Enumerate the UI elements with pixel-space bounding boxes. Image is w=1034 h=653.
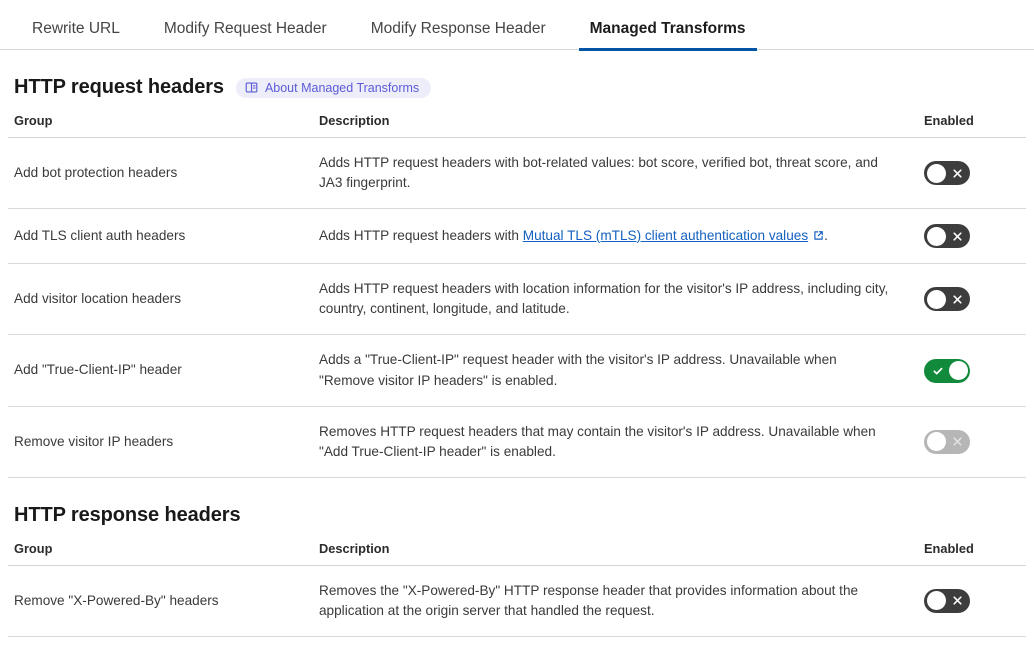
book-icon: [245, 81, 258, 94]
mutual-tls-link[interactable]: Mutual TLS (mTLS) client authentication …: [523, 228, 824, 243]
toggle-add-true-client-ip-header[interactable]: [924, 359, 970, 383]
tab-bar: Rewrite URL Modify Request Header Modify…: [0, 0, 1034, 50]
column-header-enabled: Enabled: [916, 537, 1026, 566]
table-row: Add "True-Client-IP" header Adds a "True…: [8, 335, 1026, 406]
description-prefix: Adds HTTP request headers with: [319, 228, 523, 243]
row-group-name: Add security headers: [8, 637, 313, 653]
close-icon: [952, 430, 963, 454]
row-description: Removes HTTP request headers that may co…: [313, 406, 916, 477]
row-enabled-cell: [916, 637, 1026, 653]
close-icon: [952, 287, 963, 311]
row-enabled-cell: [916, 565, 1026, 636]
column-header-description: Description: [313, 109, 916, 138]
row-description: Removes the "X-Powered-By" HTTP response…: [313, 565, 916, 636]
close-icon: [952, 224, 963, 248]
table-header-row: Group Description Enabled: [8, 109, 1026, 138]
section-header: HTTP request headers About Managed Trans…: [8, 50, 1026, 109]
table-row: Add visitor location headers Adds HTTP r…: [8, 264, 1026, 335]
table-row: Add security headers Adds several securi…: [8, 637, 1026, 653]
row-enabled-cell: [916, 335, 1026, 406]
row-enabled-cell: [916, 138, 1026, 209]
table-row: Remove visitor IP headers Removes HTTP r…: [8, 406, 1026, 477]
close-icon: [952, 589, 963, 613]
tab-label: Rewrite URL: [32, 20, 120, 37]
tab-label: Modify Response Header: [371, 20, 546, 37]
row-enabled-cell: [916, 406, 1026, 477]
toggle-knob: [927, 290, 946, 309]
row-description: Adds HTTP request headers with location …: [313, 264, 916, 335]
external-link-icon: [813, 227, 824, 247]
toggle-knob: [927, 591, 946, 610]
tab-modify-response-header[interactable]: Modify Response Header: [349, 21, 568, 51]
http-response-headers-section: HTTP response headers Group Description …: [0, 478, 1034, 653]
toggle-remove-visitor-ip-headers: [924, 430, 970, 454]
row-description: Adds HTTP request headers with bot-relat…: [313, 138, 916, 209]
toggle-knob: [949, 361, 968, 380]
row-enabled-cell: [916, 264, 1026, 335]
row-description: Adds several security-related HTTP respo…: [313, 637, 916, 653]
row-enabled-cell: [916, 209, 1026, 264]
row-group-name: Add bot protection headers: [8, 138, 313, 209]
tab-label: Modify Request Header: [164, 20, 327, 37]
row-group-name: Add TLS client auth headers: [8, 209, 313, 264]
table-row: Add bot protection headers Adds HTTP req…: [8, 138, 1026, 209]
tab-managed-transforms[interactable]: Managed Transforms: [568, 21, 768, 51]
close-icon: [952, 161, 963, 185]
badge-label: About Managed Transforms: [265, 81, 419, 95]
column-header-enabled: Enabled: [916, 109, 1026, 138]
toggle-knob: [927, 227, 946, 246]
http-request-headers-section: HTTP request headers About Managed Trans…: [0, 50, 1034, 478]
row-group-name: Remove visitor IP headers: [8, 406, 313, 477]
section-title: HTTP response headers: [14, 504, 241, 527]
column-header-group: Group: [8, 537, 313, 566]
response-headers-table: Group Description Enabled Remove "X-Powe…: [8, 537, 1026, 653]
check-icon: [932, 359, 944, 383]
description-suffix: .: [824, 228, 828, 243]
row-group-name: Add visitor location headers: [8, 264, 313, 335]
toggle-add-visitor-location-headers[interactable]: [924, 287, 970, 311]
tab-label: Managed Transforms: [590, 20, 746, 37]
section-header: HTTP response headers: [8, 478, 1026, 537]
link-label: Mutual TLS (mTLS) client authentication …: [523, 228, 808, 243]
about-managed-transforms-badge[interactable]: About Managed Transforms: [236, 78, 431, 98]
column-header-group: Group: [8, 109, 313, 138]
table-header-row: Group Description Enabled: [8, 537, 1026, 566]
toggle-add-bot-protection-headers[interactable]: [924, 161, 970, 185]
request-headers-table: Group Description Enabled Add bot protec…: [8, 109, 1026, 478]
toggle-remove-x-powered-by-headers[interactable]: [924, 589, 970, 613]
table-row: Remove "X-Powered-By" headers Removes th…: [8, 565, 1026, 636]
toggle-knob: [927, 432, 946, 451]
column-header-description: Description: [313, 537, 916, 566]
row-description: Adds HTTP request headers with Mutual TL…: [313, 209, 916, 264]
table-row: Add TLS client auth headers Adds HTTP re…: [8, 209, 1026, 264]
toggle-add-tls-client-auth-headers[interactable]: [924, 224, 970, 248]
tab-modify-request-header[interactable]: Modify Request Header: [142, 21, 349, 51]
row-group-name: Add "True-Client-IP" header: [8, 335, 313, 406]
toggle-knob: [927, 164, 946, 183]
page-title: HTTP request headers: [14, 76, 224, 99]
tab-rewrite-url[interactable]: Rewrite URL: [10, 21, 142, 51]
row-description: Adds a "True-Client-IP" request header w…: [313, 335, 916, 406]
row-group-name: Remove "X-Powered-By" headers: [8, 565, 313, 636]
